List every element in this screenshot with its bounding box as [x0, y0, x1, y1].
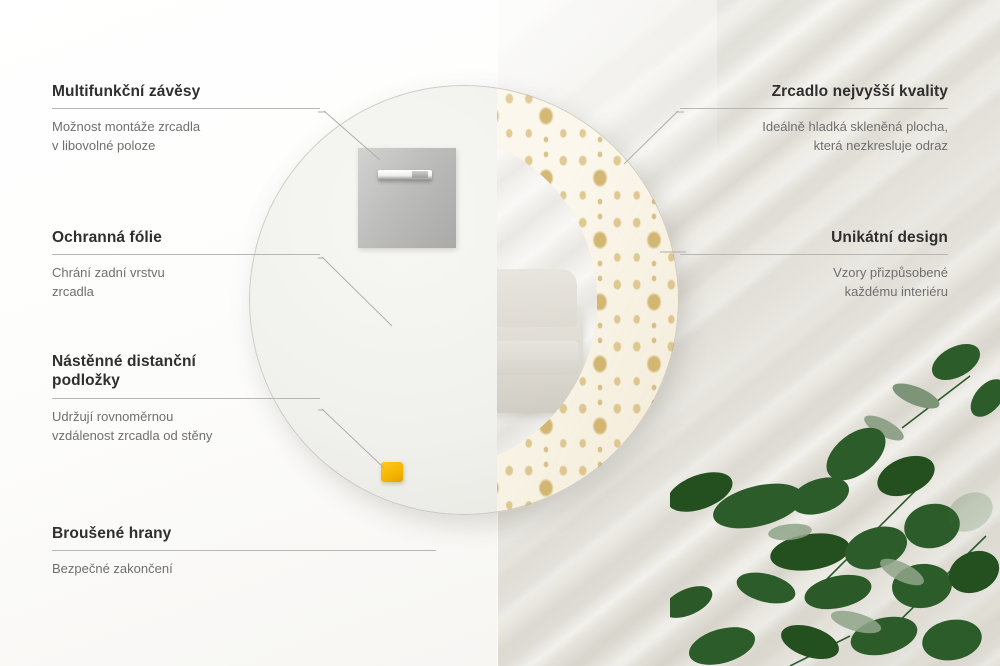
callout-rule — [680, 254, 948, 255]
callout-rule — [52, 254, 320, 255]
callout-ochranna-folie: Ochranná fólie Chrání zadní vrstvu zrcad… — [52, 228, 320, 302]
callout-description: Chrání zadní vrstvu zrcadla — [52, 264, 320, 302]
callout-description: Ideálně hladká skleněná plocha, která ne… — [680, 118, 948, 156]
callout-title: Unikátní design — [680, 228, 948, 247]
callout-description: Bezpečné zakončení — [52, 560, 436, 579]
infographic-canvas: Multifunkční závěsy Možnost montáže zrca… — [0, 0, 1000, 666]
hanger-slot — [378, 170, 432, 180]
callout-unikatni-design: Unikátní design Vzory přizpůsobené každé… — [680, 228, 948, 302]
callout-title: Ochranná fólie — [52, 228, 320, 247]
foliage-decoration — [670, 336, 1000, 666]
callout-rule — [52, 398, 320, 399]
callout-rule — [680, 108, 948, 109]
callout-zrcadlo-nejvyssi-kvality: Zrcadlo nejvyšší kvality Ideálně hladká … — [680, 82, 948, 156]
callout-title: Zrcadlo nejvyšší kvality — [680, 82, 948, 101]
distance-pad — [381, 462, 403, 482]
wall-hanger-plate — [358, 148, 456, 248]
callout-title: Broušené hrany — [52, 524, 436, 543]
callout-rule — [52, 108, 320, 109]
callout-rule — [52, 550, 436, 551]
callout-brousene-hrany: Broušené hrany Bezpečné zakončení — [52, 524, 436, 579]
callout-title: Nástěnné distanční podložky — [52, 352, 320, 391]
callout-multifunkcni-zavesy: Multifunkční závěsy Možnost montáže zrca… — [52, 82, 320, 156]
callout-description: Udržují rovnoměrnou vzdálenost zrcadla o… — [52, 408, 320, 446]
callout-nastenne-distancni-podlozky: Nástěnné distanční podložky Udržují rovn… — [52, 352, 320, 445]
callout-description: Možnost montáže zrcadla v libovolné polo… — [52, 118, 320, 156]
callout-title: Multifunkční závěsy — [52, 82, 320, 101]
callout-description: Vzory přizpůsobené každému interiéru — [680, 264, 948, 302]
